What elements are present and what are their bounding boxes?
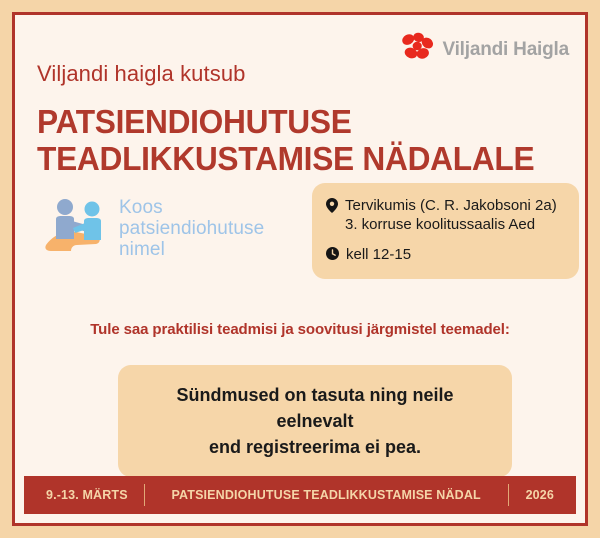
poster-card: Viljandi Haigla Viljandi haigla kutsub P… [12, 12, 588, 526]
event-location-row: Tervikumis (C. R. Jakobsoni 2a) 3. korru… [326, 196, 565, 234]
campaign-logo-line-3: nimel [119, 239, 264, 260]
page-title: PATSIENDIOHUTUSE TEADLIKKUSTAMISE NÄDALA… [37, 103, 534, 177]
headline-line-1: PATSIENDIOHUTUSE [37, 103, 534, 140]
event-time-value: kell 12-15 [346, 245, 411, 264]
campaign-logo-line-1: Koos [119, 197, 264, 218]
footer-title: PATSIENDIOHUTUSE TEADLIKKUSTAMISE NÄDAL [145, 488, 508, 502]
red-flower-icon [399, 31, 435, 68]
event-time-row: kell 12-15 [326, 245, 565, 264]
footer-year: 2026 [509, 488, 576, 502]
poster-header: Viljandi Haigla Viljandi haigla kutsub P… [15, 15, 585, 175]
free-entry-note: Sündmused on tasuta ning neile eelnevalt… [118, 365, 512, 477]
footer-dates: 9.-13. MÄRTS [24, 488, 144, 502]
poster-root: Viljandi Haigla Viljandi haigla kutsub P… [0, 0, 600, 538]
event-location-line-2: 3. korruse koolitussaalis Aed [345, 215, 557, 234]
brand-logo: Viljandi Haigla [399, 31, 569, 68]
brand-name: Viljandi Haigla [442, 39, 569, 61]
campaign-logo: Koos patsiendiohutuse nimel [43, 195, 264, 262]
campaign-logo-line-2: patsiendiohutuse [119, 218, 264, 239]
poster-mid-band: Koos patsiendiohutuse nimel Tervikumis (… [15, 183, 585, 291]
free-entry-note-line-2: end registreerima ei pea. [136, 434, 494, 460]
free-entry-note-line-1: Sündmused on tasuta ning neile eelnevalt [136, 382, 494, 434]
poster-footer: 9.-13. MÄRTS PATSIENDIOHUTUSE TEADLIKKUS… [24, 476, 576, 514]
campaign-logo-text: Koos patsiendiohutuse nimel [119, 197, 264, 260]
two-people-in-hand-icon [43, 195, 115, 262]
clock-icon [326, 247, 339, 260]
headline-line-2: TEADLIKKUSTAMISE NÄDALALE [37, 140, 534, 177]
event-location-text: Tervikumis (C. R. Jakobsoni 2a) 3. korru… [345, 196, 557, 234]
location-pin-icon [326, 198, 338, 213]
event-time-text: kell 12-15 [346, 245, 411, 264]
poster-kicker: Viljandi haigla kutsub [37, 61, 246, 87]
topics-lead-in: Tule saa praktilisi teadmisi ja soovitus… [15, 321, 585, 338]
event-details-box: Tervikumis (C. R. Jakobsoni 2a) 3. korru… [312, 183, 579, 279]
event-location-line-1: Tervikumis (C. R. Jakobsoni 2a) [345, 196, 557, 215]
